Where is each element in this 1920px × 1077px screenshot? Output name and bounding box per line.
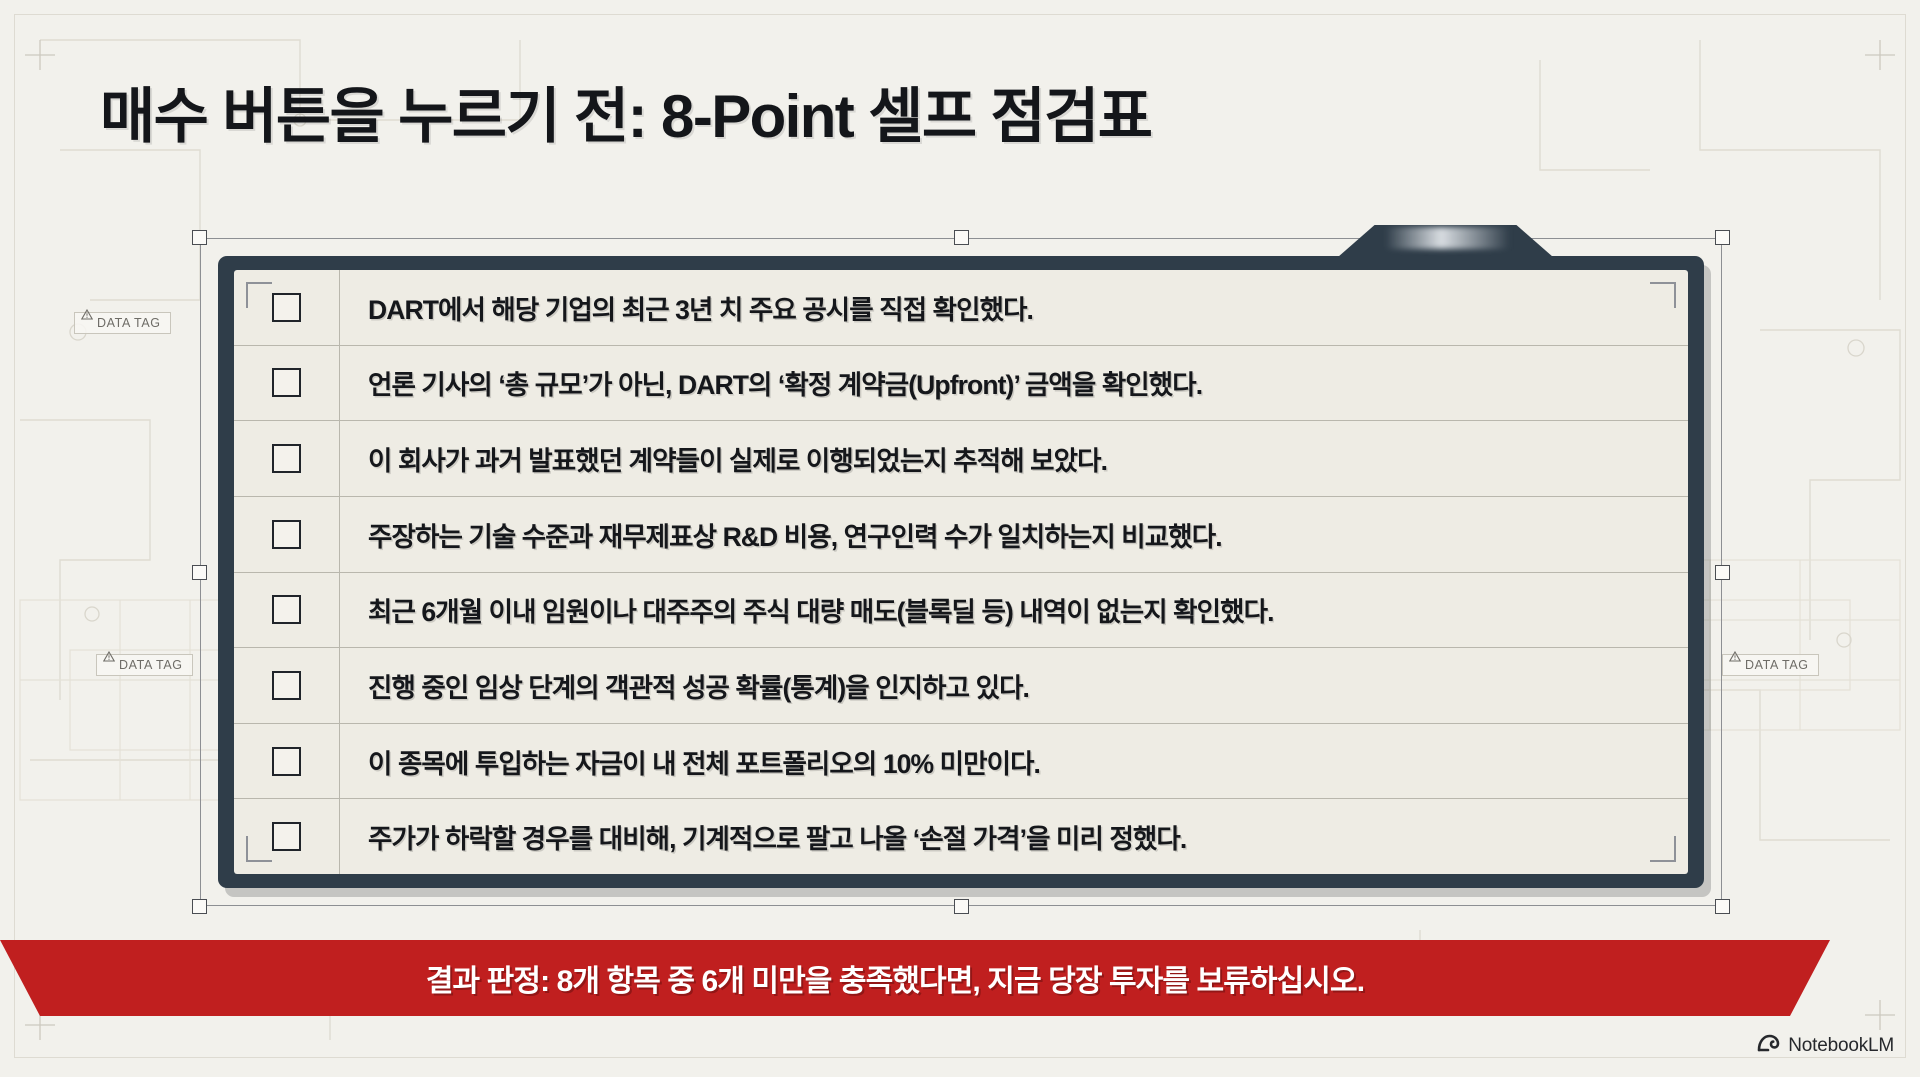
resize-handle-bottom-middle[interactable] xyxy=(954,899,969,914)
checklist-checkbox-cell[interactable] xyxy=(234,421,340,496)
checklist-panel: DART에서 해당 기업의 최근 3년 치 주요 공시를 직접 확인했다. 언론… xyxy=(218,256,1704,888)
checklist-item-label: 진행 중인 임상 단계의 객관적 성공 확률(통계)을 인지하고 있다. xyxy=(340,666,1688,705)
data-tag-right: DATA TAG xyxy=(1722,654,1819,676)
checklist-item-label: 이 회사가 과거 발표했던 계약들이 실제로 이행되었는지 추적해 보았다. xyxy=(340,439,1688,478)
checklist-checkbox-cell[interactable] xyxy=(234,270,340,345)
checklist-row[interactable]: 이 회사가 과거 발표했던 계약들이 실제로 이행되었는지 추적해 보았다. xyxy=(234,421,1688,497)
checkbox-icon[interactable] xyxy=(272,520,301,549)
notebooklm-label: NotebookLM xyxy=(1788,1035,1894,1057)
checklist-checkbox-cell[interactable] xyxy=(234,648,340,723)
resize-handle-middle-right[interactable] xyxy=(1715,565,1730,580)
checkbox-icon[interactable] xyxy=(272,293,301,322)
checklist-row[interactable]: 최근 6개월 이내 임원이나 대주주의 주식 대량 매도(블록딜 등) 내역이 … xyxy=(234,573,1688,649)
warning-triangle-icon xyxy=(82,319,92,328)
data-tag-left-lower: DATA TAG xyxy=(96,654,193,676)
checkbox-icon[interactable] xyxy=(272,671,301,700)
checklist-item-label: 최근 6개월 이내 임원이나 대주주의 주식 대량 매도(블록딜 등) 내역이 … xyxy=(340,590,1688,629)
checklist-item-label: 주장하는 기술 수준과 재무제표상 R&D 비용, 연구인력 수가 일치하는지 … xyxy=(340,515,1688,554)
warning-triangle-icon xyxy=(1730,661,1740,670)
checklist-checkbox-cell[interactable] xyxy=(234,799,340,874)
checkbox-icon[interactable] xyxy=(272,747,301,776)
checkbox-icon[interactable] xyxy=(272,444,301,473)
checklist-rows: DART에서 해당 기업의 최근 3년 치 주요 공시를 직접 확인했다. 언론… xyxy=(234,270,1688,874)
checklist-row[interactable]: 이 종목에 투입하는 자금이 내 전체 포트폴리오의 10% 미만이다. xyxy=(234,724,1688,800)
checklist-row[interactable]: 주가가 하락할 경우를 대비해, 기계적으로 팔고 나올 ‘손절 가격’을 미리… xyxy=(234,799,1688,874)
checklist-row[interactable]: 주장하는 기술 수준과 재무제표상 R&D 비용, 연구인력 수가 일치하는지 … xyxy=(234,497,1688,573)
checkbox-icon[interactable] xyxy=(272,368,301,397)
checkbox-icon[interactable] xyxy=(272,595,301,624)
page-title: 매수 버튼을 누르기 전: 8-Point 셀프 점검표 xyxy=(100,68,1151,155)
resize-handle-bottom-left[interactable] xyxy=(192,899,207,914)
data-tag-label: DATA TAG xyxy=(97,316,161,330)
checklist-item-label: 주가가 하락할 경우를 대비해, 기계적으로 팔고 나올 ‘손절 가격’을 미리… xyxy=(340,817,1688,856)
checklist-checkbox-cell[interactable] xyxy=(234,573,340,648)
checklist-item-label: 언론 기사의 ‘총 규모’가 아닌, DART의 ‘확정 계약금(Upfront… xyxy=(340,363,1688,402)
resize-handle-bottom-right[interactable] xyxy=(1715,899,1730,914)
resize-handle-top-right[interactable] xyxy=(1715,230,1730,245)
checklist-checkbox-cell[interactable] xyxy=(234,724,340,799)
panel-tab xyxy=(1338,225,1553,257)
checklist-sheet: DART에서 해당 기업의 최근 3년 치 주요 공시를 직접 확인했다. 언론… xyxy=(234,270,1688,874)
checklist-item-label: 이 종목에 투입하는 자금이 내 전체 포트폴리오의 10% 미만이다. xyxy=(340,742,1688,781)
panel-tab-sheen xyxy=(1385,227,1510,249)
checklist-item-label: DART에서 해당 기업의 최근 3년 치 주요 공시를 직접 확인했다. xyxy=(340,288,1688,327)
checklist-row[interactable]: 진행 중인 임상 단계의 객관적 성공 확률(통계)을 인지하고 있다. xyxy=(234,648,1688,724)
verdict-banner: 결과 판정: 8개 항목 중 6개 미만을 충족했다면, 지금 당장 투자를 보… xyxy=(0,940,1830,1016)
checklist-row[interactable]: DART에서 해당 기업의 최근 3년 치 주요 공시를 직접 확인했다. xyxy=(234,270,1688,346)
notebooklm-watermark: NotebookLM xyxy=(1757,1034,1894,1058)
verdict-banner-text: 결과 판정: 8개 항목 중 6개 미만을 충족했다면, 지금 당장 투자를 보… xyxy=(426,956,1404,1000)
checklist-checkbox-cell[interactable] xyxy=(234,497,340,572)
warning-triangle-icon xyxy=(104,661,114,670)
resize-handle-top-middle[interactable] xyxy=(954,230,969,245)
notebooklm-logo-icon xyxy=(1757,1034,1780,1058)
checklist-checkbox-cell[interactable] xyxy=(234,346,340,421)
checkbox-icon[interactable] xyxy=(272,822,301,851)
data-tag-left-upper: DATA TAG xyxy=(74,312,171,334)
data-tag-label: DATA TAG xyxy=(119,658,183,672)
data-tag-label: DATA TAG xyxy=(1745,658,1809,672)
checklist-row[interactable]: 언론 기사의 ‘총 규모’가 아닌, DART의 ‘확정 계약금(Upfront… xyxy=(234,346,1688,422)
resize-handle-middle-left[interactable] xyxy=(192,565,207,580)
resize-handle-top-left[interactable] xyxy=(192,230,207,245)
